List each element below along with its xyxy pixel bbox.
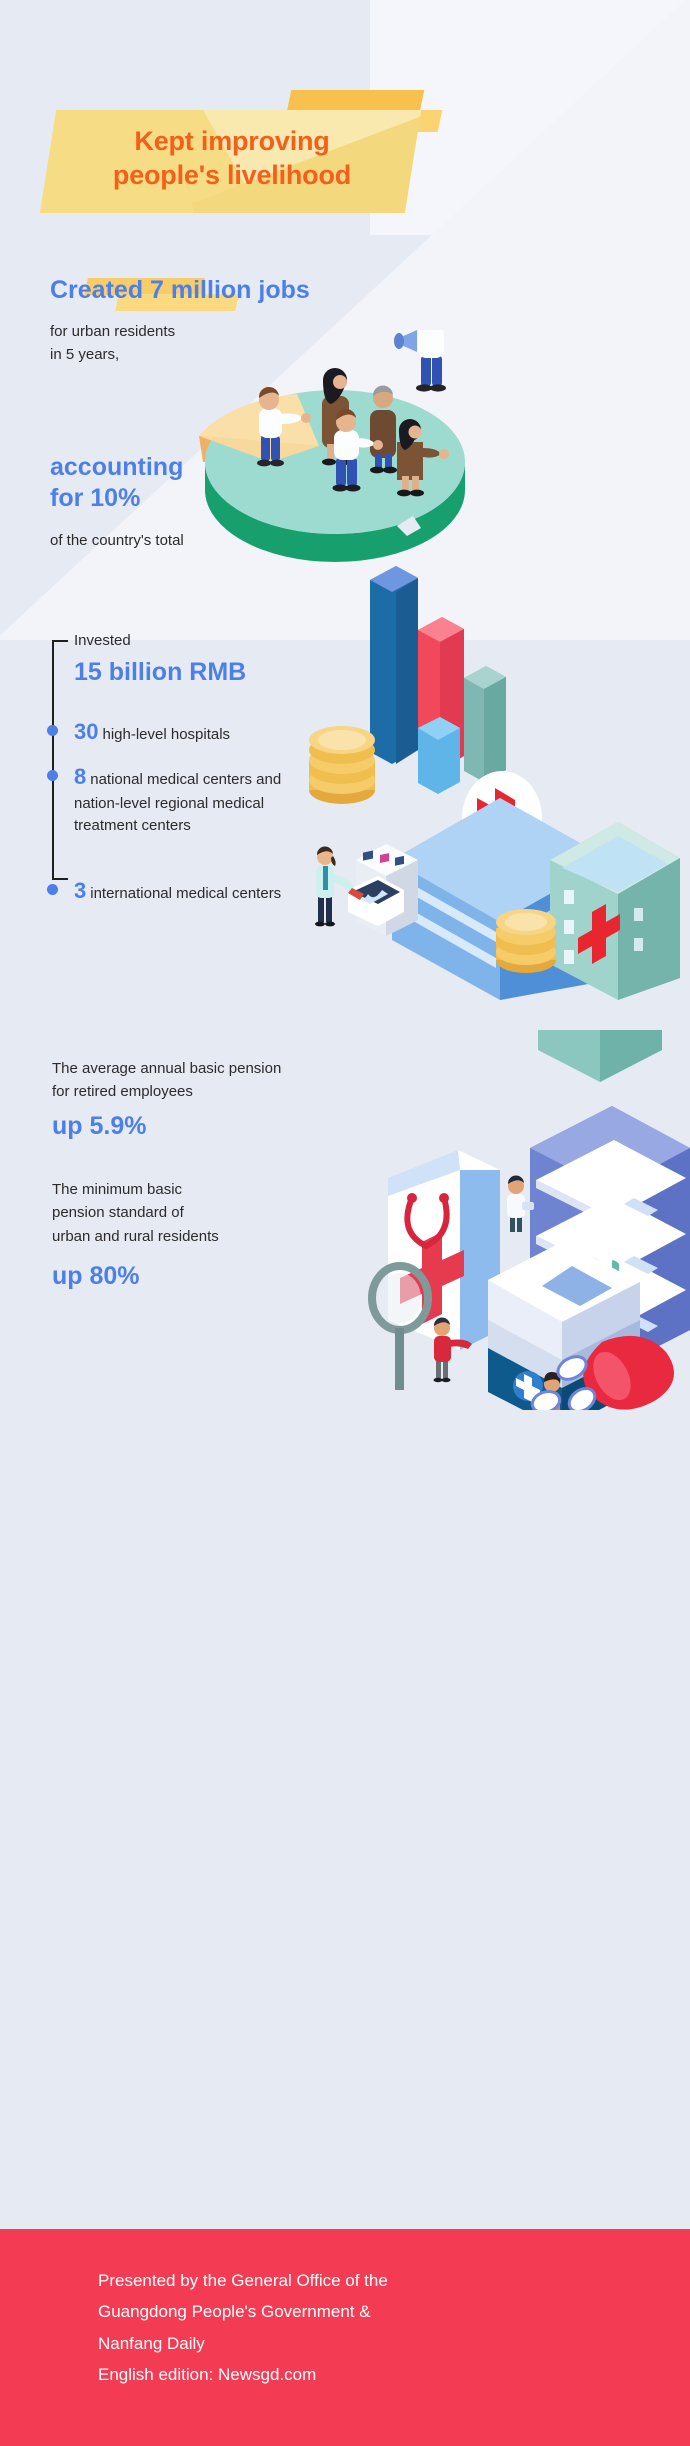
- pension-average-line1: The average annual basic pension: [52, 1057, 342, 1080]
- timeline-cap-top: [52, 640, 68, 642]
- health-item-3-number: 3: [74, 878, 86, 903]
- bar-chart-decoration: [370, 566, 506, 794]
- doctor-and-kiosk: [315, 844, 418, 936]
- coin-stack-lower: [496, 909, 556, 973]
- health-list-item-2: 8national medical centers and nation-lev…: [74, 761, 289, 836]
- teal-box-top: [538, 1030, 662, 1082]
- pharmacy-illustration: [350, 1030, 690, 1410]
- pension-minimum-line1: The minimum basic: [52, 1178, 302, 1201]
- page-title: Kept improving people's livelihood: [82, 124, 382, 192]
- jobs-headline: Created 7 million jobs: [50, 275, 380, 305]
- timeline-axis: [52, 640, 54, 880]
- health-item-1-number: 30: [74, 719, 98, 744]
- hospital-svg: [300, 560, 690, 1000]
- timeline-dot-2: [47, 770, 58, 781]
- timeline-cap-bottom: [52, 878, 68, 880]
- person-figure-megaphone: [389, 330, 446, 392]
- jobs-percent-line2: for 10%: [50, 483, 300, 514]
- health-item-1-text: high-level hospitals: [102, 726, 230, 743]
- pharmacy-staff-figure: [507, 1175, 534, 1232]
- infographic-root: Kept improving people's livelihood Creat…: [0, 0, 690, 2446]
- pension-average-line2: for retired employees: [52, 1080, 342, 1103]
- pension-minimum-line3: urban and rural residents: [52, 1225, 302, 1248]
- pension-average-stat: up 5.9%: [52, 1112, 146, 1141]
- footer-credits: Presented by the General Office of the G…: [98, 2265, 638, 2391]
- header-banner: Kept improving people's livelihood: [0, 82, 690, 252]
- health-item-3-text: international medical centers: [90, 885, 281, 902]
- health-list-item-3: 3international medical centers: [74, 875, 289, 907]
- footer-line-1: Presented by the General Office of the: [98, 2265, 638, 2296]
- jobs-percent-line1: accounting: [50, 452, 300, 483]
- footer-banner: Presented by the General Office of the G…: [0, 2229, 690, 2446]
- pension-minimum-stat: up 80%: [52, 1262, 140, 1291]
- jobs-percent-subtext: of the country's total: [50, 530, 310, 553]
- pension-average-text: The average annual basic pension for ret…: [52, 1057, 342, 1104]
- banner-accent-tab-top: [287, 90, 425, 112]
- health-item-2-number: 8: [74, 764, 86, 789]
- coin-stack-upper: [309, 726, 375, 804]
- pharmacy-svg: [350, 1030, 690, 1410]
- hospital-illustration: [300, 560, 690, 1000]
- health-list-item-1: 30high-level hospitals: [74, 716, 304, 748]
- jobs-percent-headline: accounting for 10%: [50, 452, 300, 513]
- page-title-line2: people's livelihood: [82, 158, 382, 192]
- page-title-line1: Kept improving: [82, 124, 382, 158]
- pension-minimum-text: The minimum basic pension standard of ur…: [52, 1178, 302, 1248]
- timeline-dot-3: [47, 884, 58, 895]
- invested-label: Invested: [74, 632, 131, 649]
- invested-amount: 15 billion RMB: [74, 658, 246, 687]
- footer-line-3: Nanfang Daily: [98, 2328, 638, 2359]
- timeline-dot-1: [47, 725, 58, 736]
- footer-line-2: Guangdong People's Government &: [98, 2296, 638, 2327]
- megaphone-icon: [394, 330, 417, 352]
- footer-line-4: English edition: Newsgd.com: [98, 2359, 638, 2390]
- pension-minimum-line2: pension standard of: [52, 1201, 302, 1224]
- health-item-2-text: national medical centers and nation-leve…: [74, 771, 281, 834]
